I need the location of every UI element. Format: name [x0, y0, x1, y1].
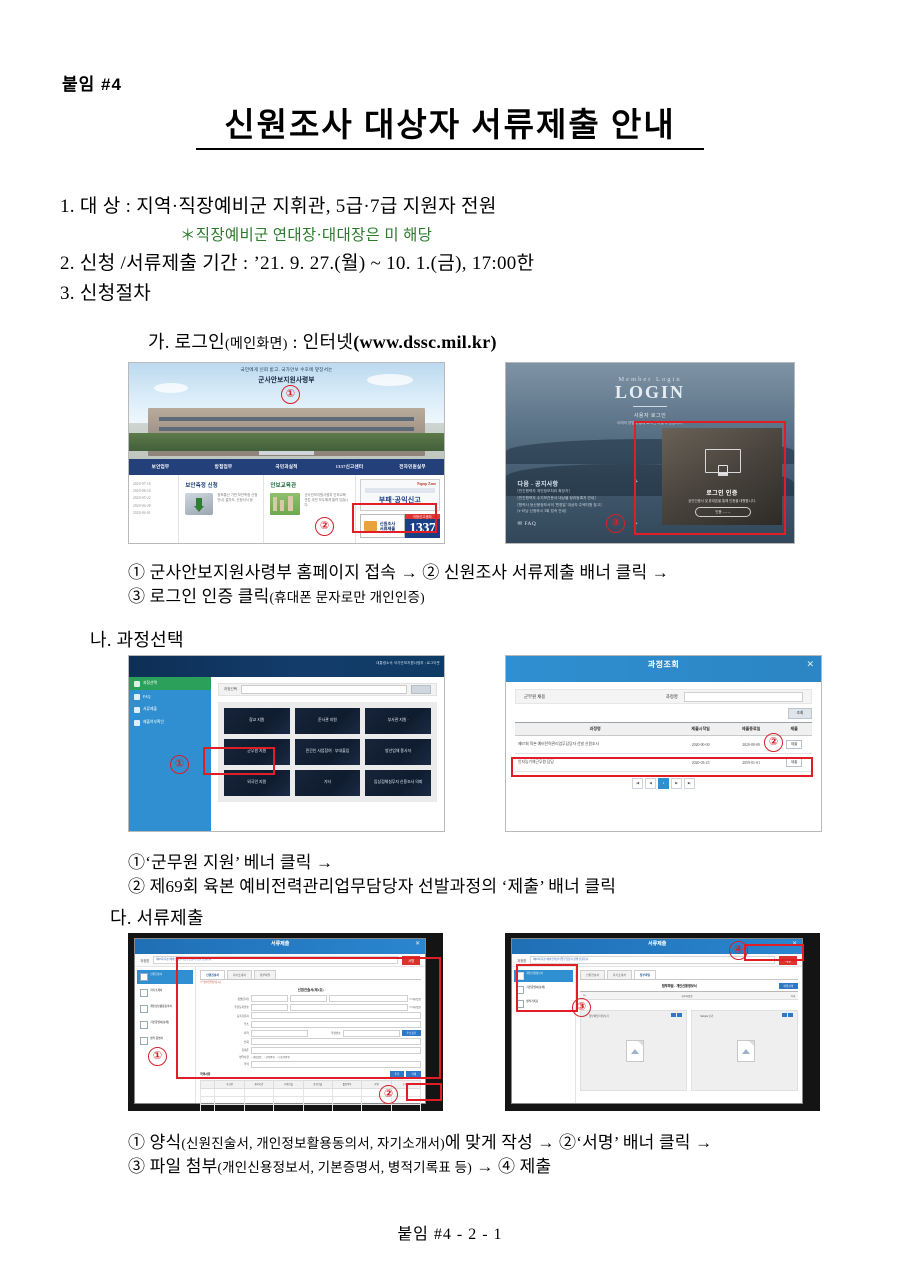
- sidebar-label: 과정선택: [143, 681, 157, 686]
- step-c-caption2-main: ③ 파일 첨부: [128, 1157, 217, 1176]
- col-header-name: 과정명: [515, 723, 675, 736]
- query-button[interactable]: 조회: [788, 708, 812, 719]
- step-b-caption-1: ①‘군무원 지원’ 베너 클릭 →: [128, 848, 333, 873]
- list-item-1: 1. 대 상 : 지역·직장예비군 지휘관, 5급·7급 지원자 전원: [60, 192, 860, 221]
- course-cell[interactable]: 방산업체 종사자: [365, 739, 431, 765]
- list-icon: [134, 681, 140, 687]
- close-icon[interactable]: ✕: [806, 660, 814, 669]
- notice-item[interactable]: [민간협력자 개인정보처리 확장자]: [518, 488, 639, 495]
- download-icon: [185, 493, 213, 515]
- attachment-tag: 붙임 #4: [62, 70, 122, 95]
- step-c-caption1-paren: (신원진술서, 개인정보활용동의서, 자기소개서): [181, 1136, 444, 1151]
- attach-content: 신원진술서 자기소개서 첨부파일 첨부파일 - 개인신용정보서 파일선택 No …: [576, 967, 802, 1103]
- body-list: 1. 대 상 : 지역·직장예비군 지휘관, 5급·7급 지원자 전원 ＊직장예…: [60, 192, 860, 308]
- doc-icon: [140, 973, 148, 981]
- section-title: 첨부파일 - 개인신용정보서: [580, 983, 779, 988]
- step-b-heading: 나. 과정선택: [90, 626, 184, 652]
- col-header-no: No: [583, 994, 604, 998]
- sidebar-item-faq[interactable]: FAQ: [129, 690, 211, 703]
- date-item: 2020-04-28: [133, 503, 174, 510]
- document-page: 붙임 #4 신원조사 대상자 서류제출 안내 1. 대 상 : 지역·직장예비군…: [0, 0, 900, 1272]
- table-row[interactable]: [201, 1104, 421, 1111]
- date-item: 2020-04-01: [133, 510, 174, 517]
- course-label: 과정명: [140, 958, 149, 963]
- course-cell[interactable]: 기타: [295, 770, 361, 796]
- search-input[interactable]: [241, 685, 407, 694]
- filter-label-1: 군무원 채용: [524, 694, 545, 700]
- sidebar-label: 서류제출: [143, 707, 157, 712]
- pane-caption: Sample 보기: [700, 1014, 713, 1018]
- banner-line-2: 군사안보지원사령부: [129, 374, 444, 384]
- step-a-heading-url: (www.dssc.mil.kr): [353, 332, 497, 352]
- cell-name: 제67회 육본 예비전력관리업무담당자 선발 신원조사: [515, 736, 675, 754]
- highlight-box-civilian: [203, 747, 275, 775]
- tab-attachment[interactable]: 첨부파일: [634, 970, 656, 979]
- attach-tabs: 신원진술서 자기소개서 첨부파일: [580, 970, 798, 980]
- filter-row: 군무원 채용 과정명: [515, 689, 812, 704]
- step-a-caption2-main: ③ 로그인 인증 클릭: [128, 587, 269, 606]
- highlight-box-submit: [744, 944, 804, 961]
- security-measure-card[interactable]: 보안측정 신청 정보통신 기반 보안측정 신청안내, 절차도, 신청서식 등: [179, 475, 264, 543]
- nav-item[interactable]: 보안업무: [129, 464, 192, 470]
- course-cell[interactable]: 입상검체실무자 신용조사 의뢰: [365, 770, 431, 796]
- nav-item[interactable]: 전자민원실무: [381, 464, 444, 470]
- course-cell[interactable]: 부사관 지원 ·: [365, 708, 431, 734]
- marker-2-homepage: ②: [315, 517, 334, 536]
- step-a-heading-rest: : 인터넷: [288, 332, 353, 352]
- homepage-nav[interactable]: 보안업무 방첩업무 국민과실적 1337신고센터 전자민원실무: [129, 459, 444, 474]
- highlight-box-form: [176, 957, 441, 1079]
- step-a-heading-main: 가. 로그인: [148, 332, 225, 352]
- highlight-box-banner: [352, 503, 437, 533]
- topbar-account-text: 대통령소속 국가안보지원사령부 | 로그아웃: [376, 660, 440, 665]
- sidebar-item-course-select[interactable]: 과정선택: [129, 677, 211, 690]
- modal-title: 과정조회: [506, 656, 821, 669]
- building-icon: [270, 493, 300, 515]
- sidebar-label: FAQ: [143, 695, 150, 699]
- date-item: 2020-07-16: [133, 481, 174, 488]
- nav-label: 자기소개서: [150, 989, 162, 993]
- highlight-box-nav: [516, 964, 578, 1012]
- step-a-caption2-paren: (휴대폰 문자로만 개인인증): [269, 590, 424, 605]
- filter-label-2: 과정명: [666, 694, 678, 700]
- marker-2-lookup: ②: [764, 733, 783, 752]
- chat-icon: [134, 694, 140, 700]
- check-icon: [134, 720, 140, 726]
- screenshot-course-select: 대통령소속 국가안보지원사령부 | 로그아웃 과정선택 FAQ 서류제출 제출여…: [128, 655, 445, 832]
- login-kr-title: 사용자 로그인: [506, 412, 794, 419]
- col-header-school: 학교명: [215, 1080, 244, 1088]
- pane-controls[interactable]: [671, 1013, 683, 1017]
- date-item: 2020-06-10: [133, 488, 174, 495]
- submit-button[interactable]: 제출: [786, 740, 803, 749]
- col-header-submit: 제출: [776, 723, 812, 736]
- notice-item[interactable]: [e-러닝 신청하시 3회 접속 안내]: [518, 508, 639, 515]
- popup-zone-label: Popup Zone: [417, 482, 436, 486]
- file-table-header: No 첨부파일명 삭제: [580, 991, 798, 1000]
- item3-num: 3.: [60, 283, 75, 304]
- doc-icon: [140, 1037, 148, 1045]
- list-item-2: 2. 신청 /서류제출 기간 : ’21. 9. 27.(월) ~ 10. 1.…: [60, 249, 860, 278]
- col-header-period: 재학기간: [244, 1080, 273, 1088]
- nav-label: 신원진술서: [150, 973, 162, 977]
- search-label: 과정선택: [224, 687, 237, 692]
- col-header-check: [201, 1080, 215, 1088]
- marker-3-attach: ③: [572, 998, 591, 1017]
- step-a-heading: 가. 로그인(메인화면) : 인터넷(www.dssc.mil.kr): [148, 328, 497, 354]
- card-title: 보안측정 신청: [185, 481, 257, 489]
- tab-statement[interactable]: 신원진술서: [580, 970, 605, 979]
- file-icon: [626, 1040, 644, 1062]
- doc-icon: [140, 989, 148, 997]
- login-title-block: Member Login LOGIN 사용자 로그인 아래의 방법을 통해 로그…: [506, 376, 794, 426]
- notice-item[interactable]: [협력사 등신용정보서의 '변경일' 대상자 주택지원 참고]: [518, 502, 639, 509]
- preview-panes: 첨부파일 미리보기 Sample 보기: [580, 1010, 798, 1091]
- marker-1-course: ①: [170, 755, 189, 774]
- step-c-caption1-rest: 에 맞게 작성 → ②‘서명’ 배너 클릭 →: [445, 1133, 712, 1152]
- course-sidebar: 과정선택 FAQ 서류제출 제출여부확인: [129, 677, 211, 831]
- page-last[interactable]: ▶|: [684, 778, 695, 789]
- col-header-filename: 첨부파일명: [604, 994, 769, 998]
- course-cell[interactable]: 장교 지원: [224, 708, 290, 734]
- col-header-end: 종료년월: [303, 1080, 332, 1088]
- highlight-box-auth: [634, 421, 786, 535]
- notice-dates-column: 2020-07-16 2020-06-10 2020-05-22 2020-04…: [129, 475, 179, 543]
- step-c-caption-1: ① 양식(신원진술서, 개인정보활용동의서, 자기소개서)에 맞게 작성 → ②…: [128, 1128, 712, 1153]
- notice-item[interactable]: [민간협력자 수기보관문서 대상물 정리등록지 안내]: [518, 495, 639, 502]
- pane-controls[interactable]: [782, 1013, 794, 1017]
- homepage-banner: 국민에게 신뢰 받고, 국가안보 수호에 앞장서는 군사안보지원사령부: [129, 367, 444, 384]
- dialog-header: 서류제출 ✕: [135, 939, 425, 954]
- file-icon: [737, 1040, 755, 1062]
- item2-num: 2.: [60, 253, 75, 274]
- course-label: 과정명: [517, 958, 526, 963]
- sidebar-item-check[interactable]: 제출여부확인: [129, 716, 211, 729]
- course-cell[interactable]: 준사관 지원: [295, 708, 361, 734]
- marker-4-attach: ④: [729, 941, 748, 960]
- col-header-delete: 삭제: [770, 994, 795, 998]
- step-c-caption1-main: ① 양식: [128, 1133, 181, 1152]
- banner-line-1: 국민에게 신뢰 받고, 국가안보 수호에 앞장서는: [129, 367, 444, 373]
- page-next[interactable]: ▶: [671, 778, 682, 789]
- filter-input[interactable]: [684, 692, 803, 702]
- security-education-card[interactable]: 안보교육관 군사안보지원사령부 안보교육관은 국민 모두에게 열려 있습니다.: [264, 475, 355, 543]
- step-a-caption-2: ③ 로그인 인증 클릭(휴대폰 문자로만 개인인증): [128, 582, 425, 607]
- sidebar-label: 제출여부확인: [143, 720, 164, 725]
- marker-3-login: ③: [606, 514, 625, 533]
- search-button[interactable]: [411, 685, 431, 694]
- dialog-title: 서류제출: [135, 939, 425, 947]
- cell-start: 2020-00-00: [675, 736, 725, 754]
- doc-icon: [140, 1005, 148, 1013]
- page-footer: 붙임 #4 - 2 - 1: [0, 1220, 900, 1244]
- page-prev[interactable]: ◀: [645, 778, 656, 789]
- note-line: ＊직장예비군 연대장·대대장은 미 해당: [180, 223, 860, 245]
- list-item-3: 3. 신청절차: [60, 279, 860, 308]
- nav-label: 병적 증명서: [150, 1037, 163, 1041]
- faq-label: FAQ: [524, 521, 536, 527]
- card-text: 군사안보지원사령부 안보교육관은 국민 모두에게 열려 있습니다.: [304, 493, 348, 508]
- pagination[interactable]: |◀ ◀ 1 ▶ ▶|: [515, 778, 812, 789]
- item2-label: 신청 /서류제출 기간 :: [80, 253, 249, 274]
- step-a-caption-1: ① 군사안보지원사령부 홈페이지 접속 → ② 신원조사 서류제출 배너 클릭 …: [128, 558, 669, 583]
- marker-2-form: ②: [379, 1085, 398, 1104]
- step-b-caption-2: ② 제69회 육본 예비전력관리업무담당자 선발과정의 ‘제출’ 배너 클릭: [128, 872, 616, 897]
- item1-label: 대 상 :: [80, 196, 131, 217]
- step-c-caption2-paren: (개인신용정보서, 기본증명서, 병적기록표 등): [217, 1160, 471, 1175]
- preview-pane[interactable]: 첨부파일 미리보기: [580, 1010, 687, 1091]
- tab-resume[interactable]: 자기소개서: [607, 970, 632, 979]
- login-title: LOGIN: [506, 383, 794, 401]
- card-title: 안보교육관: [270, 481, 348, 489]
- marker-1-homepage: ①: [281, 385, 300, 404]
- tree-line: [129, 433, 444, 451]
- col-header-start: 제출시작일: [675, 723, 725, 736]
- item1-text: 지역·직장예비군 지휘관, 5급·7급 지원자 전원: [136, 196, 496, 217]
- login-subtitle: Member Login: [506, 376, 794, 383]
- file-select-button[interactable]: 파일선택: [779, 983, 799, 989]
- course-search-bar: 과정선택: [218, 683, 437, 696]
- modal-header: 과정조회 ✕: [506, 656, 821, 682]
- nav-item[interactable]: 방첩업무: [192, 464, 255, 470]
- nav-item[interactable]: 1337신고센터: [318, 464, 381, 470]
- item2-text: ’21. 9. 27.(월) ~ 10. 1.(금), 17:00한: [254, 253, 535, 274]
- step-c-caption2-rest: → ④ 제출: [472, 1157, 551, 1176]
- nav-label: 개인정보활용동의서: [150, 1005, 171, 1009]
- sidebar-item-submit[interactable]: 서류제출: [129, 703, 211, 716]
- title-underline: [196, 148, 704, 150]
- col-header-grad: 졸업여부: [332, 1080, 361, 1088]
- page-1[interactable]: 1: [658, 778, 669, 789]
- sample-pane[interactable]: Sample 보기: [691, 1010, 798, 1091]
- course-topbar: 대통령소속 국가안보지원사령부 | 로그아웃: [129, 656, 444, 677]
- step-a-heading-paren: (메인화면): [225, 337, 288, 352]
- course-cell[interactable]: 민간인 사업참여 · 부대출입: [295, 739, 361, 765]
- step-c-heading: 다. 서류제출: [110, 904, 204, 930]
- highlight-box-row: [511, 757, 813, 777]
- doc-icon: [134, 707, 140, 713]
- page-title: 신원조사 대상자 서류제출 안내: [0, 98, 900, 146]
- item1-num: 1.: [60, 196, 75, 217]
- item3-label: 신청절차: [80, 283, 151, 304]
- close-icon[interactable]: ✕: [415, 940, 420, 947]
- doc-icon: [140, 1021, 148, 1029]
- notice-panel-title: 다음 - 공지사항+: [518, 479, 639, 488]
- date-item: 2020-05-22: [133, 495, 174, 502]
- page-first[interactable]: |◀: [632, 778, 643, 789]
- nav-item[interactable]: 국민과실적: [255, 464, 318, 470]
- card-text: 정보통신 기반 보안측정 신청안내, 절차도, 신청서식 등: [217, 493, 257, 503]
- col-header-start: 시작년월: [274, 1080, 303, 1088]
- pane-caption: 첨부파일 미리보기: [589, 1014, 609, 1018]
- step-c-caption-2: ③ 파일 첨부(개인신용정보서, 기본증명서, 병적기록표 등) → ④ 제출: [128, 1152, 551, 1177]
- nav-label: 기본증명서(상세): [150, 1021, 168, 1025]
- marker-1-form: ①: [148, 1047, 167, 1066]
- highlight-box-sign: [406, 1083, 442, 1101]
